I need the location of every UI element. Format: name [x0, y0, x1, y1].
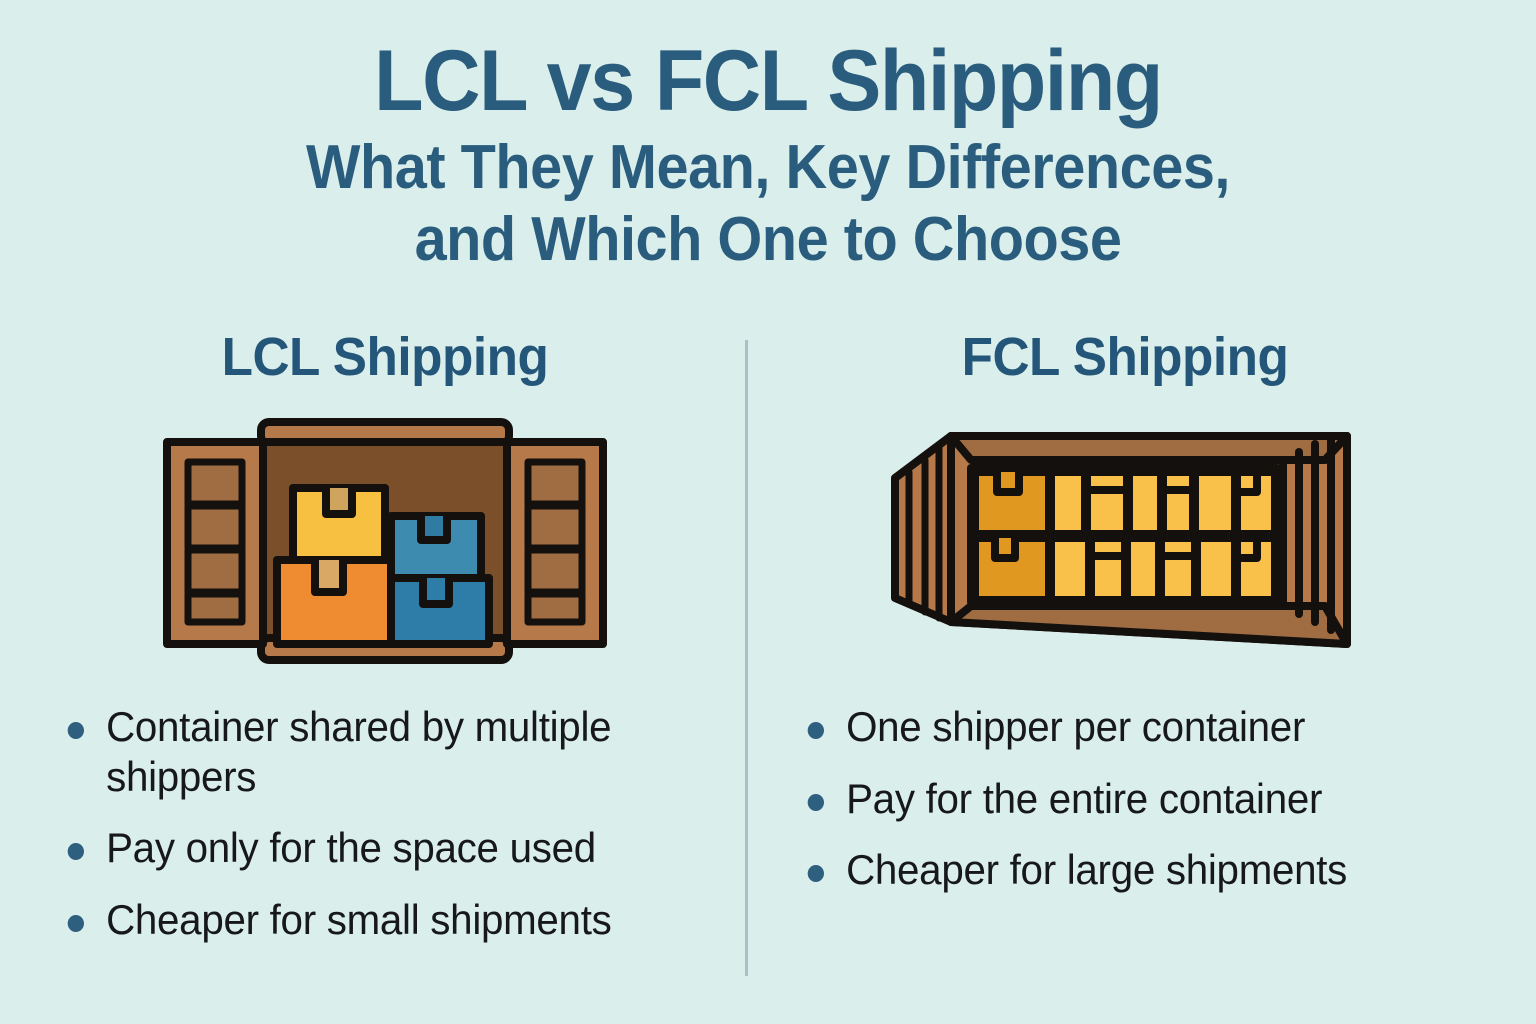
bullet-text: Container shared by multiple shippers [106, 703, 611, 800]
full-container-packed-boxes-icon [885, 416, 1365, 666]
header: LCL vs FCL Shipping What They Mean, Key … [0, 38, 1536, 276]
column-lcl: LCL Shipping [40, 330, 730, 966]
bullet-list-fcl: One shipper per container Pay for the en… [775, 702, 1475, 895]
box-orange-icon [277, 560, 391, 644]
column-heading-lcl: LCL Shipping [57, 330, 713, 384]
bullet-text: Pay for the entire container [846, 775, 1322, 822]
page-subtitle-line-2: and Which One to Choose [54, 204, 1482, 276]
list-item: Cheaper for small shipments [60, 895, 703, 945]
column-fcl: FCL Shipping [775, 330, 1475, 917]
illustration-lcl-wrapper [40, 416, 730, 666]
column-divider [745, 340, 748, 976]
box-yellow-icon [293, 488, 385, 566]
bullet-text: One shipper per container [846, 703, 1305, 750]
list-item: Pay for the entire container [800, 774, 1448, 824]
bullet-text: Cheaper for large shipments [846, 846, 1347, 893]
bullet-dot-icon [68, 722, 84, 739]
list-item: One shipper per container [800, 702, 1448, 752]
bullet-dot-icon [808, 794, 824, 811]
open-container-with-mixed-boxes-icon [155, 416, 615, 666]
bullet-list-lcl: Container shared by multiple shippers Pa… [40, 702, 730, 944]
list-item: Cheaper for large shipments [800, 845, 1448, 895]
box-blue-dark-icon [391, 578, 489, 644]
column-heading-fcl: FCL Shipping [793, 330, 1458, 384]
page-subtitle-line-1: What They Mean, Key Differences, [54, 132, 1482, 204]
list-item: Container shared by multiple shippers [60, 702, 703, 801]
fcl-box-row-1 [975, 472, 1275, 534]
bullet-text: Pay only for the space used [106, 824, 596, 871]
page-title: LCL vs FCL Shipping [46, 38, 1490, 124]
fcl-box-row-2 [975, 538, 1275, 600]
bullet-dot-icon [68, 843, 84, 860]
list-item: Pay only for the space used [60, 823, 703, 873]
bullet-dot-icon [808, 865, 824, 882]
bullet-dot-icon [808, 722, 824, 739]
infographic-canvas: LCL vs FCL Shipping What They Mean, Key … [0, 0, 1536, 1024]
bullet-dot-icon [68, 915, 84, 932]
illustration-fcl-wrapper [775, 416, 1475, 666]
bullet-text: Cheaper for small shipments [106, 896, 611, 943]
